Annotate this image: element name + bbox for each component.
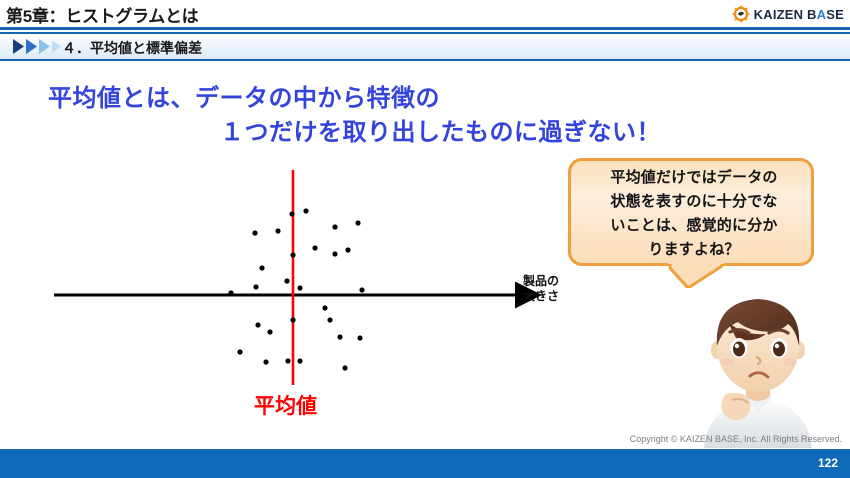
kaizen-gear-icon	[732, 5, 750, 23]
footer-bar	[0, 449, 850, 478]
mean-line-label: 平均値	[254, 390, 317, 420]
bubble-line-1: 平均値だけではデータの	[581, 166, 807, 190]
scatter-point	[322, 305, 327, 310]
scatter-point	[359, 287, 364, 292]
scatter-point	[284, 278, 289, 283]
headline-line-2: １つだけを取り出したものに過ぎない！	[48, 116, 808, 150]
pupil-right	[773, 342, 785, 357]
scatter-point	[285, 358, 290, 363]
speech-bubble-text: 平均値だけではデータの 状態を表すのに十分でな いことは、感覚的に分か りますよ…	[581, 166, 807, 262]
scatter-point	[297, 285, 302, 290]
scatter-point	[253, 284, 258, 289]
scatter-point	[275, 228, 280, 233]
scatter-point	[345, 247, 350, 252]
bubble-line-2: 状態を表すのに十分でな	[581, 190, 807, 214]
scatter-points-group	[228, 208, 364, 370]
pupil-left	[733, 342, 745, 357]
scatter-point	[290, 317, 295, 322]
scatter-point	[342, 365, 347, 370]
scatter-point	[289, 211, 294, 216]
speech-bubble-tail	[668, 262, 724, 288]
headline-line-1: 平均値とは、データの中から特徴の	[48, 85, 440, 112]
scatter-point	[263, 359, 268, 364]
kaizen-base-logo-text: KAIZEN BASE	[754, 7, 844, 22]
scatter-point	[252, 230, 257, 235]
scatter-point	[255, 322, 260, 327]
scatter-point	[337, 334, 342, 339]
headline: 平均値とは、データの中から特徴の １つだけを取り出したものに過ぎない！	[48, 82, 808, 150]
eye-highlight-left	[735, 344, 739, 348]
page-title: 第5章：ヒストグラムとは	[6, 2, 198, 27]
slide-canvas: 第5章：ヒストグラムとは	[0, 0, 850, 478]
scatter-point	[237, 349, 242, 354]
thinking-person-illustration	[690, 288, 836, 448]
scatter-point	[332, 251, 337, 256]
scatter-point	[290, 252, 295, 257]
cheek-right	[783, 358, 797, 366]
eye-highlight-right	[775, 344, 779, 348]
bubble-line-4: りますよね？	[581, 238, 807, 262]
logo-text-part-3: SE	[826, 7, 844, 22]
scatter-point	[312, 245, 317, 250]
scatter-point	[332, 224, 337, 229]
scatter-point	[327, 317, 332, 322]
page-number: 122	[818, 456, 838, 470]
scatter-point	[259, 265, 264, 270]
scatter-point	[303, 208, 308, 213]
header-divider	[0, 27, 850, 30]
section-title: ４．平均値と標準偏差	[62, 38, 202, 58]
logo-text-part-2: A	[817, 7, 827, 22]
triple-chevron-right-icon	[12, 38, 62, 55]
bubble-line-3: いことは、感覚的に分か	[581, 214, 807, 238]
cheek-left	[720, 358, 734, 366]
kaizen-base-logo: KAIZEN BASE	[732, 3, 844, 25]
x-axis-label-line-2: 大きさ	[523, 289, 559, 304]
scatter-point	[228, 290, 233, 295]
scatter-point	[267, 329, 272, 334]
x-axis-label-line-1: 製品の	[523, 274, 559, 289]
logo-text-part-1: KAIZEN B	[754, 7, 817, 22]
scatter-point	[297, 358, 302, 363]
scatter-point	[357, 335, 362, 340]
x-axis-label: 製品の 大きさ	[523, 274, 559, 304]
scatter-point	[355, 220, 360, 225]
copyright-text: Copyright © KAIZEN BASE, Inc. All Rights…	[630, 434, 842, 444]
